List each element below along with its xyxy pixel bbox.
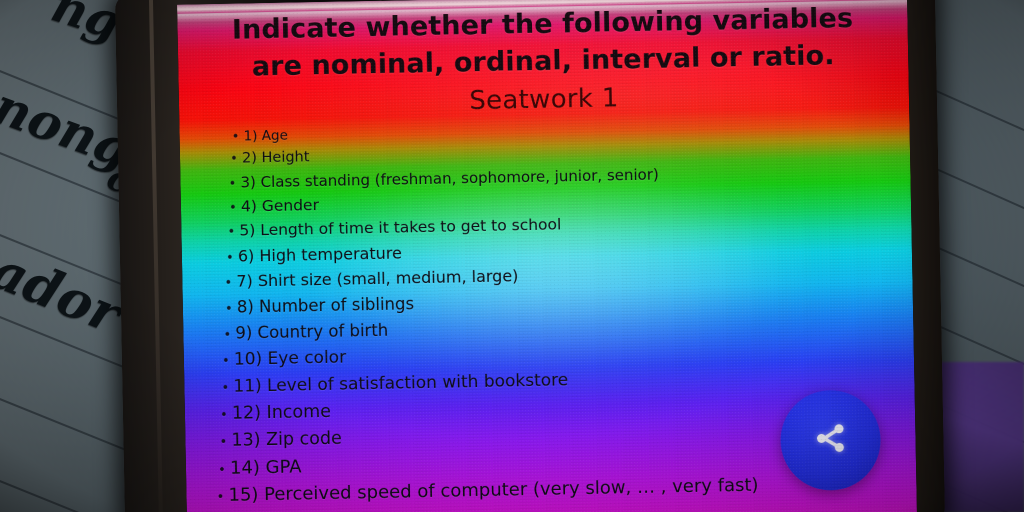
- list-item-label: 8) Number of siblings: [237, 294, 415, 316]
- list-item-label: 9) Country of birth: [235, 321, 388, 343]
- slide-title-block: Indicate whether the following variables…: [177, 0, 909, 121]
- list-item-label: 4) Gender: [241, 196, 319, 215]
- list-item-label: 6) High temperature: [238, 243, 402, 265]
- slide-content: Indicate whether the following variables…: [177, 0, 917, 512]
- bullet-glyph: •: [224, 178, 240, 191]
- phone-screen[interactable]: Indicate whether the following variables…: [177, 0, 917, 512]
- bullet-glyph: •: [215, 436, 231, 449]
- bullet-glyph: •: [220, 277, 236, 290]
- bullet-glyph: •: [217, 382, 233, 395]
- bullet-glyph: •: [214, 464, 230, 477]
- bullet-glyph: •: [212, 491, 228, 504]
- list-item-label: 13) Zip code: [231, 429, 342, 451]
- list-item-label: 10) Eye color: [234, 348, 347, 370]
- bullet-glyph: •: [219, 329, 235, 342]
- list-item-label: 2) Height: [242, 149, 310, 166]
- list-item-label: 14) GPA: [230, 456, 302, 478]
- bullet-glyph: •: [221, 303, 237, 316]
- photo-scene: ng nong c ador Indicate whether the foll…: [0, 0, 1024, 512]
- bullet-glyph: •: [223, 226, 239, 239]
- list-item-label: 7) Shirt size (small, medium, large): [236, 266, 518, 290]
- bullet-glyph: •: [222, 252, 238, 265]
- bullet-glyph: •: [226, 153, 242, 166]
- bullet-glyph: •: [225, 202, 241, 215]
- list-item-label: 1) Age: [243, 128, 288, 145]
- bullet-glyph: •: [227, 130, 243, 143]
- list-item-label: 12) Income: [232, 402, 331, 424]
- bullet-glyph: •: [218, 355, 234, 368]
- bullet-glyph: •: [216, 409, 232, 422]
- phone-device: Indicate whether the following variables…: [115, 0, 945, 512]
- share-icon: [810, 417, 851, 463]
